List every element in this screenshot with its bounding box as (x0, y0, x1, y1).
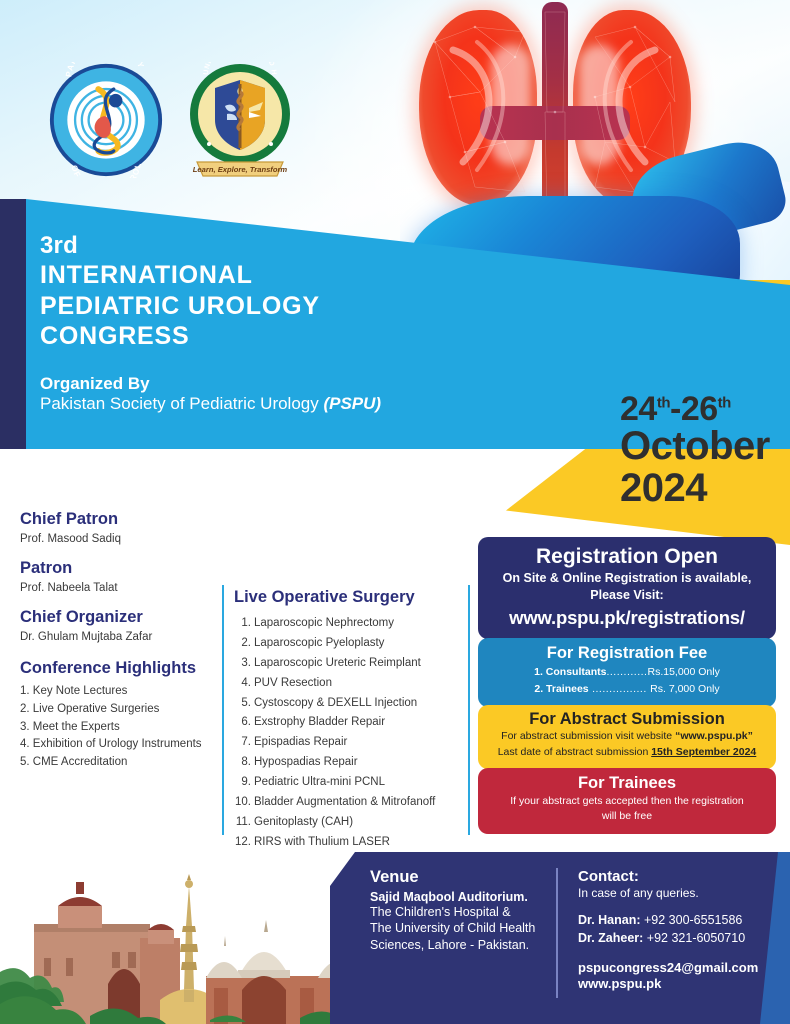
list-item-text: Pediatric Ultra-mini PCNL (254, 776, 385, 788)
pspu-logo: PAKISTAN SOCIETY OF PEDIATRIC UROLOGY (48, 62, 164, 178)
title-line-3: CONGRESS (40, 321, 510, 352)
list-item: 10.Bladder Augmentation & Mitrofanoff (234, 793, 469, 813)
contact-person-1: Dr. Hanan: +92 300-6551586 (578, 913, 742, 927)
organizer-name: Pakistan Society of Pediatric Urology (P… (40, 394, 510, 414)
contact-person-1-phone[interactable]: +92 300-6551586 (641, 913, 743, 927)
list-item: 9.Pediatric Ultra-mini PCNL (234, 773, 469, 793)
registration-fee-box: For Registration Fee 1. Consultants.....… (478, 638, 776, 707)
list-item-text: Genitoplasty (CAH) (254, 816, 353, 828)
registration-url[interactable]: www.pspu.pk/registrations/ (486, 607, 768, 629)
day-start-suffix: th (657, 395, 670, 412)
abstract-website-url[interactable]: “www.pspu.pk” (675, 730, 753, 742)
navy-left-strip (0, 199, 26, 449)
abstract-heading: For Abstract Submission (486, 710, 768, 729)
list-item: 4.PUV Resection (234, 674, 469, 694)
venue-line-2: The University of Child Health (370, 920, 560, 936)
list-item-number: 2. (234, 634, 251, 654)
left-info-column: Chief Patron Prof. Masood Sadiq Patron P… (20, 510, 220, 772)
title-line-1: INTERNATIONAL (40, 260, 510, 291)
conference-highlights-list: 1. Key Note Lectures 2. Live Operative S… (20, 683, 220, 772)
day-end: 26 (681, 390, 718, 428)
title-block: 3rd INTERNATIONAL PEDIATRIC UROLOGY CONG… (40, 232, 510, 414)
list-item-text: Epispadias Repair (254, 736, 347, 748)
live-surgery-column: Live Operative Surgery 1.Laparoscopic Ne… (234, 588, 469, 853)
abstract-deadline-line: Last date of abstract submission 15th Se… (486, 745, 768, 761)
abstract-deadline-prefix: Last date of abstract submission (498, 746, 652, 758)
registration-visit-label: Please Visit: (486, 587, 768, 603)
contact-block: Contact: In case of any queries. Dr. Han… (578, 868, 778, 993)
contact-email[interactable]: pspucongress24@gmail.com (578, 960, 758, 975)
event-day-range: 24th-26th (620, 392, 785, 426)
patron-label: Patron (20, 559, 220, 578)
list-item-text: Exstrophy Bladder Repair (254, 716, 385, 728)
fee-heading: For Registration Fee (486, 644, 768, 663)
abstract-website-prefix: For abstract submission visit website (501, 730, 675, 742)
conference-poster: PAKISTAN SOCIETY OF PEDIATRIC UROLOGY UN… (0, 0, 790, 1024)
chief-patron-name: Prof. Masood Sadiq (20, 533, 220, 545)
list-item-number: 8. (234, 753, 251, 773)
list-item: 3.Laparoscopic Ureteric Reimplant (234, 654, 469, 674)
list-item-number: 9. (234, 773, 251, 793)
list-item: 1. Key Note Lectures (20, 683, 220, 701)
venue-line-3: Sciences, Lahore - Pakistan. (370, 937, 560, 953)
live-surgery-list: 1.Laparoscopic Nephrectomy 2.Laparoscopi… (234, 614, 469, 853)
trainees-line-2: will be free (486, 809, 768, 823)
list-item-text: Hypospadias Repair (254, 756, 358, 768)
svg-text:Learn, Explore, Transform: Learn, Explore, Transform (193, 165, 288, 174)
live-surgery-heading: Live Operative Surgery (234, 588, 469, 607)
event-year: 2024 (620, 468, 785, 510)
fee-row-value: Rs. 7,000 Only (650, 683, 719, 695)
title-ordinal: 3rd (40, 232, 510, 260)
list-item: 8.Hypospadias Repair (234, 753, 469, 773)
day-dash: - (670, 390, 681, 428)
abstract-website-line: For abstract submission visit website “w… (486, 729, 768, 745)
column-divider-left (222, 585, 224, 835)
list-item-number: 3. (234, 654, 251, 674)
venue-line-1: The Children's Hospital & (370, 904, 560, 920)
contact-person-1-label: Dr. Hanan: (578, 913, 641, 927)
list-item-number: 1. (234, 614, 251, 634)
fee-row-dots: ................ (589, 683, 651, 695)
contact-heading: Contact: (578, 868, 778, 885)
trainees-heading: For Trainees (486, 774, 768, 793)
registration-open-box: Registration Open On Site & Online Regis… (478, 537, 776, 639)
organizer-text: Pakistan Society of Pediatric Urology (40, 394, 323, 413)
fee-row-trainees: 2. Trainees ................ Rs. 7,000 O… (486, 682, 768, 697)
list-item-text: Laparoscopic Ureteric Reimplant (254, 657, 421, 669)
contact-phones: Dr. Hanan: +92 300-6551586 Dr. Zaheer: +… (578, 912, 778, 948)
contact-person-2: Dr. Zaheer: +92 321-6050710 (578, 931, 745, 945)
day-start: 24 (620, 390, 657, 428)
chief-organizer-name: Dr. Ghulam Mujtaba Zafar (20, 631, 220, 643)
fee-row-label: 1. Consultants (534, 666, 606, 678)
organized-by-label: Organized By (40, 374, 510, 394)
organizer-abbreviation: (PSPU) (323, 394, 381, 413)
for-trainees-box: For Trainees If your abstract gets accep… (478, 768, 776, 834)
list-item-text: Laparoscopic Pyeloplasty (254, 637, 384, 649)
patron-name: Prof. Nabeela Talat (20, 582, 220, 594)
contact-website[interactable]: www.pspu.pk (578, 976, 661, 991)
list-item-number: 5. (234, 694, 251, 714)
list-item-number: 7. (234, 733, 251, 753)
venue-name: Sajid Maqbool Auditorium. (370, 890, 560, 904)
uchs-logo: UNIVERSITY OF CHILD HEALTH SCIENCES LAHO… (185, 62, 295, 182)
conference-highlights-heading: Conference Highlights (20, 659, 220, 678)
contact-links: pspucongress24@gmail.com www.pspu.pk (578, 960, 778, 994)
fee-row-label: 2. Trainees (534, 683, 588, 695)
fee-row-consultants: 1. Consultants............Rs.15,000 Only (486, 665, 768, 680)
abstract-submission-box: For Abstract Submission For abstract sub… (478, 705, 776, 769)
list-item: 5. CME Accreditation (20, 754, 220, 772)
list-item: 1.Laparoscopic Nephrectomy (234, 614, 469, 634)
fee-row-dots: ............ (606, 666, 647, 678)
registration-subline: On Site & Online Registration is availab… (486, 570, 768, 586)
contact-person-2-phone[interactable]: +92 321-6050710 (643, 931, 745, 945)
list-item-number: 6. (234, 713, 251, 733)
day-end-suffix: th (718, 395, 731, 412)
list-item: 11.Genitoplasty (CAH) (234, 813, 469, 833)
list-item-number: 10. (234, 793, 251, 813)
trainees-line-1: If your abstract gets accepted then the … (486, 794, 768, 808)
list-item: 2. Live Operative Surgeries (20, 701, 220, 719)
list-item: 5.Cystoscopy & DEXELL Injection (234, 694, 469, 714)
venue-heading: Venue (370, 868, 560, 887)
list-item-number: 4. (234, 674, 251, 694)
list-item: 3. Meet the Experts (20, 719, 220, 737)
list-item-text: Laparoscopic Nephrectomy (254, 617, 394, 629)
title-line-2: PEDIATRIC UROLOGY (40, 291, 510, 322)
event-month: October (620, 426, 785, 468)
list-item-text: PUV Resection (254, 677, 332, 689)
venue-block: Venue Sajid Maqbool Auditorium. The Chil… (370, 868, 560, 953)
event-date-block: 24th-26th October 2024 (620, 392, 785, 509)
list-item-text: Bladder Augmentation & Mitrofanoff (254, 796, 435, 808)
fee-row-value: Rs.15,000 Only (647, 666, 719, 678)
contact-subheading: In case of any queries. (578, 886, 778, 900)
list-item-number: 11. (234, 813, 251, 833)
list-item: 4. Exhibition of Urology Instruments (20, 736, 220, 754)
list-item: 6.Exstrophy Bladder Repair (234, 713, 469, 733)
chief-patron-label: Chief Patron (20, 510, 220, 529)
list-item: 2.Laparoscopic Pyeloplasty (234, 634, 469, 654)
abstract-deadline-date: 15th September 2024 (651, 746, 756, 758)
chief-organizer-label: Chief Organizer (20, 608, 220, 627)
registration-heading: Registration Open (486, 545, 768, 569)
list-item: 7.Epispadias Repair (234, 733, 469, 753)
contact-person-2-label: Dr. Zaheer: (578, 931, 643, 945)
list-item-text: Cystoscopy & DEXELL Injection (254, 697, 417, 709)
